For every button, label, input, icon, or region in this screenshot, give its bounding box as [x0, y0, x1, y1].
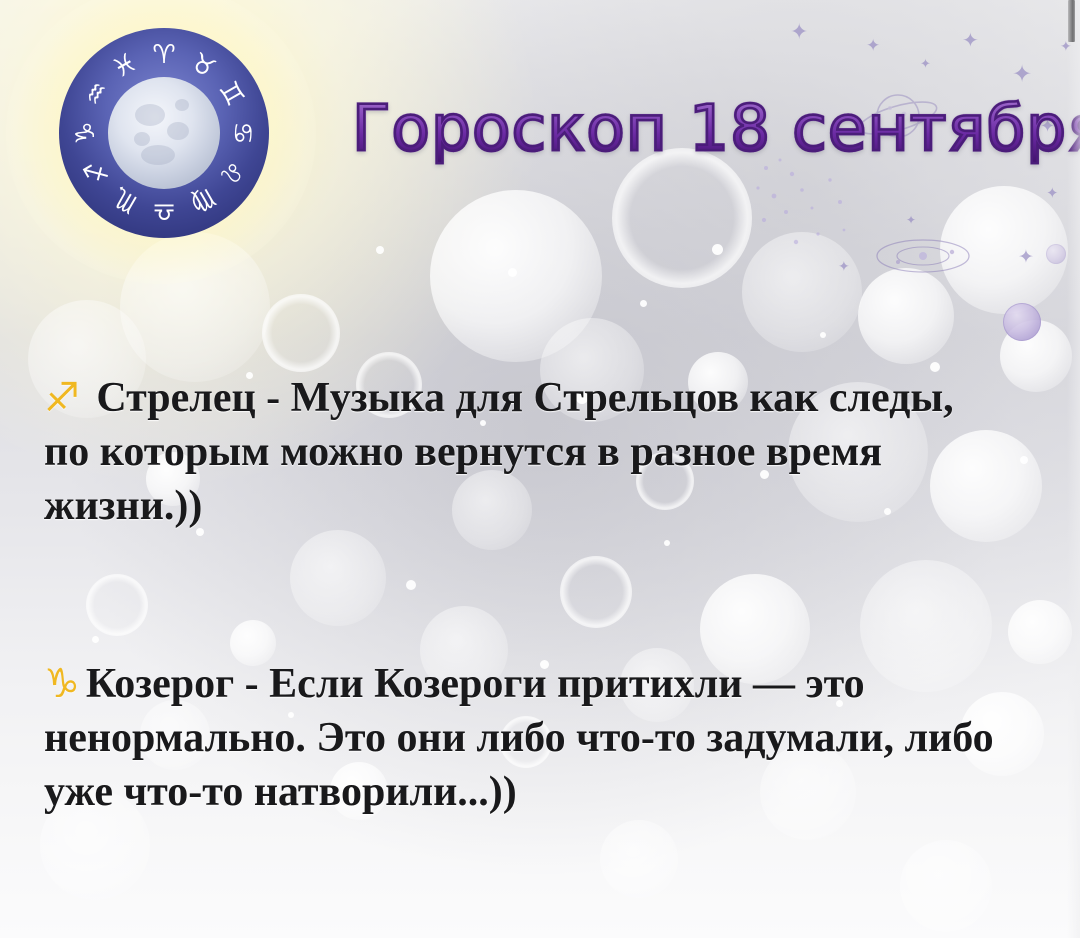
star-doodle-icon: ✦ — [790, 22, 808, 44]
purple-planet-icon — [1003, 303, 1041, 341]
page-title: Гороскоп 18 сентября — [352, 92, 1080, 165]
galaxy-doodle-icon — [868, 226, 978, 286]
svg-text:♋: ♋ — [227, 121, 257, 144]
star-doodle-icon: ✦ — [1012, 62, 1032, 86]
capricorn-sign-icon: ♑ — [44, 661, 80, 707]
purple-planet-icon — [1046, 244, 1066, 264]
horoscope-entry-capricorn: ♑Козерог - Если Козероги притихли — это … — [44, 658, 1004, 819]
star-doodle-icon: ✦ — [866, 38, 880, 55]
star-doodle-icon: ✦ — [906, 214, 916, 226]
sparkle-cluster-icon — [744, 150, 864, 260]
star-doodle-icon: ✦ — [1018, 248, 1034, 267]
zodiac-wheel-moon: ♈ ♉ ♊ ♋ ♌ ♍ ♎ ♏ ♐ ♑ ♒ ♓ — [58, 27, 270, 239]
vertical-scrollbar-track[interactable] — [1067, 0, 1080, 938]
horoscope-entry-sagittarius: ♐ Стрелец - Музыка для Стрельцов как сле… — [44, 372, 1004, 533]
star-doodle-icon: ✦ — [920, 58, 931, 71]
vertical-scrollbar-thumb[interactable] — [1068, 0, 1075, 42]
svg-text:♈: ♈ — [152, 40, 175, 70]
sagittarius-text: Стрелец - Музыка для Стрельцов как следы… — [44, 375, 954, 529]
horoscope-image: ✦ ✦ ✦ ✦ ✦ ✦ ✦ ✦ ✦ ✦ ✦ — [0, 0, 1080, 938]
capricorn-text: Козерог - Если Козероги притихли — это н… — [44, 661, 994, 815]
star-doodle-icon: ✦ — [838, 260, 850, 274]
svg-text:♎: ♎ — [152, 196, 175, 226]
star-doodle-icon: ✦ — [962, 30, 979, 50]
svg-text:♑: ♑ — [71, 121, 101, 144]
sagittarius-sign-icon: ♐ — [44, 375, 80, 421]
star-doodle-icon: ✦ — [1046, 186, 1059, 201]
